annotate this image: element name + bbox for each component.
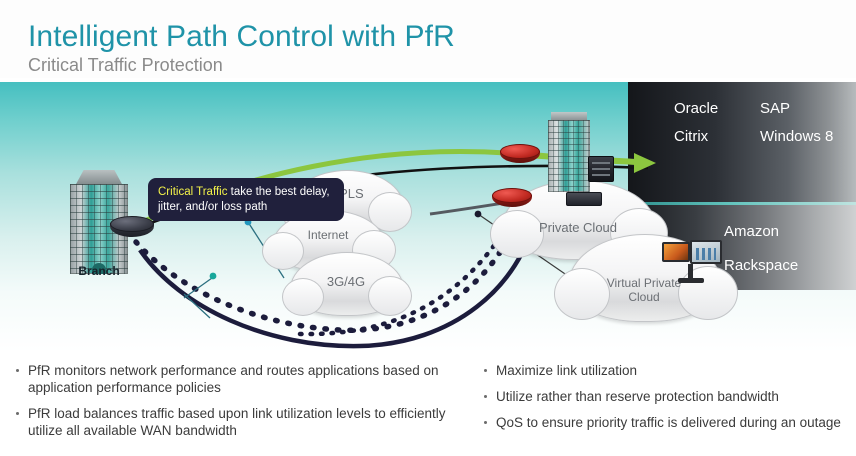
page-subtitle: Critical Traffic Protection — [28, 55, 223, 76]
leader-dot-reroute — [475, 211, 482, 218]
wan-router-primary-icon — [500, 144, 540, 168]
branch-label: Branch — [57, 264, 141, 278]
bullet-item: PfR monitors network performance and rou… — [10, 362, 450, 396]
network-diagram: Oracle SAP Citrix Windows 8 Amazon Racks… — [0, 82, 856, 352]
datacenter-switch-icon — [566, 192, 602, 206]
server-slot — [592, 162, 610, 164]
callout-highlight: Critical Traffic — [158, 186, 227, 198]
slide-header: Intelligent Path Control with PfR Critic… — [0, 0, 856, 78]
cloud-label-internet: Internet — [272, 228, 384, 242]
building-windows — [548, 120, 590, 192]
wan-router-secondary-icon — [492, 188, 532, 212]
bullet-item: QoS to ensure priority traffic is delive… — [478, 414, 856, 431]
bullet-item: PfR load balances traffic based upon lin… — [10, 405, 450, 439]
critical-arrow-head — [634, 153, 656, 173]
callout-critical-best-path: Critical Traffic take the best delay, ji… — [148, 178, 344, 221]
datacenter-server-icon — [588, 156, 614, 182]
bullet-item: Maximize link utilization — [478, 362, 856, 379]
server-slot — [592, 168, 610, 170]
router-top — [500, 144, 540, 159]
video-screen-content — [696, 248, 716, 260]
video-base — [678, 278, 704, 283]
router-top — [110, 216, 154, 232]
router-top — [492, 188, 532, 203]
cloud-label-vpc-line2: Cloud — [568, 290, 720, 304]
cloud-label-private: Private Cloud — [502, 220, 654, 235]
server-slot — [592, 174, 610, 176]
bullets-right-column: Maximize link utilization Utilize rather… — [478, 362, 856, 440]
page-title: Intelligent Path Control with PfR — [28, 20, 455, 54]
cloud-label-3g4g: 3G/4G — [290, 274, 402, 289]
video-screen-left — [662, 242, 690, 262]
cloud-3g4g: 3G/4G — [290, 252, 402, 314]
branch-router-icon — [110, 216, 154, 242]
bullets-left-column: PfR monitors network performance and rou… — [10, 362, 450, 448]
datacenter-building-icon — [548, 110, 590, 192]
bullet-item: Utilize rather than reserve protection b… — [478, 388, 856, 405]
bullet-section: PfR monitors network performance and rou… — [0, 356, 856, 456]
leader-dot-other — [210, 273, 217, 280]
